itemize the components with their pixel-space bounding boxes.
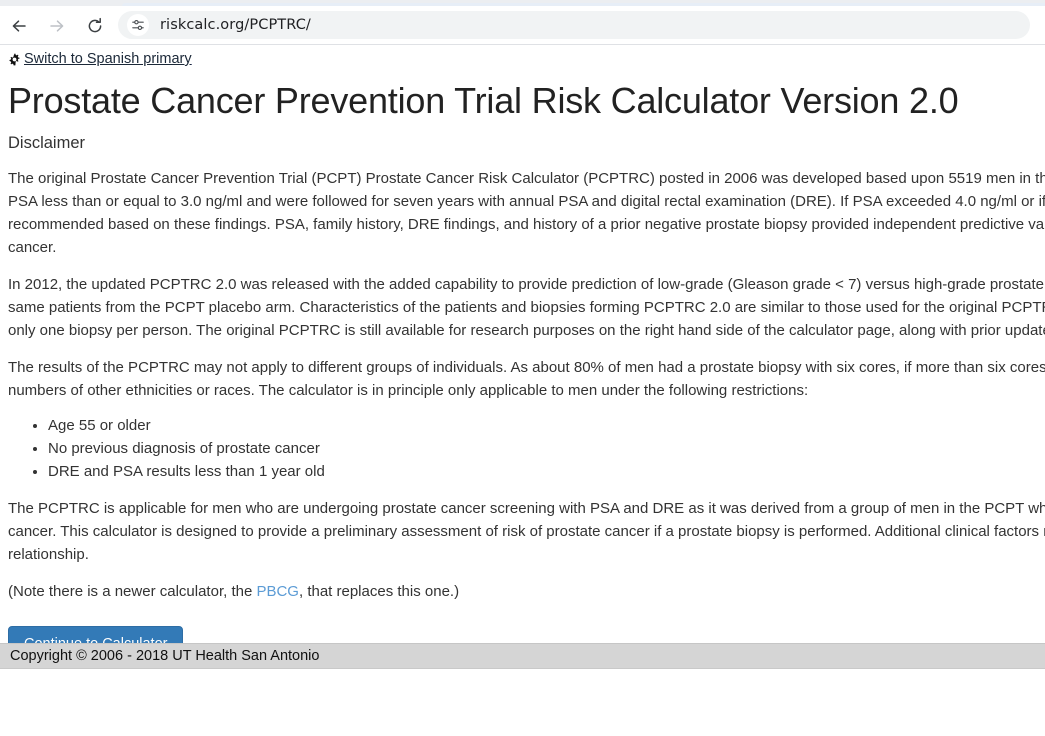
reload-button[interactable] (83, 14, 107, 38)
tune-sliders-icon (131, 18, 145, 32)
browser-chrome: riskcalc.org/PCPTRC/ (0, 0, 1045, 46)
newer-calculator-note: (Note there is a newer calculator, the P… (8, 580, 1045, 603)
page-title: Prostate Cancer Prevention Trial Risk Ca… (8, 79, 1045, 123)
switch-to-spanish-link[interactable]: Switch to Spanish primary (8, 51, 192, 67)
switch-to-spanish-label: Switch to Spanish primary (24, 51, 192, 67)
note-prefix: (Note there is a newer calculator, the (8, 583, 256, 600)
disclaimer-paragraph-4: The PCPTRC is applicable for men who are… (8, 497, 1045, 566)
gear-icon (8, 53, 21, 66)
main-content: Prostate Cancer Prevention Trial Risk Ca… (8, 79, 1045, 663)
restrictions-list: Age 55 or older No previous diagnosis of… (8, 414, 1045, 483)
site-footer: Copyright © 2006 - 2018 UT Health San An… (0, 643, 1045, 669)
page-content: Switch to Spanish primary Prostate Cance… (0, 46, 1045, 736)
page-viewport: Switch to Spanish primary Prostate Cance… (0, 46, 1045, 736)
back-button[interactable] (7, 14, 31, 38)
site-settings-icon[interactable] (127, 14, 149, 36)
address-bar[interactable]: riskcalc.org/PCPTRC/ (118, 11, 1030, 39)
disclaimer-paragraph-1: The original Prostate Cancer Prevention … (8, 167, 1045, 259)
disclaimer-paragraph-3: The results of the PCPTRC may not apply … (8, 356, 1045, 402)
browser-toolbar: riskcalc.org/PCPTRC/ (0, 6, 1045, 45)
disclaimer-heading: Disclaimer (8, 133, 1045, 153)
list-item: DRE and PSA results less than 1 year old (48, 460, 1045, 483)
disclaimer-paragraph-2: In 2012, the updated PCPTRC 2.0 was rele… (8, 273, 1045, 342)
note-suffix: , that replaces this one.) (299, 583, 459, 600)
copyright-text: Copyright © 2006 - 2018 UT Health San An… (10, 648, 319, 664)
list-item: Age 55 or older (48, 414, 1045, 437)
forward-button (45, 14, 69, 38)
forward-arrow-icon (47, 16, 67, 36)
url-text: riskcalc.org/PCPTRC/ (160, 17, 311, 33)
pbcg-link[interactable]: PBCG (256, 583, 299, 600)
reload-icon (85, 16, 105, 36)
back-arrow-icon (9, 16, 29, 36)
list-item: No previous diagnosis of prostate cancer (48, 437, 1045, 460)
